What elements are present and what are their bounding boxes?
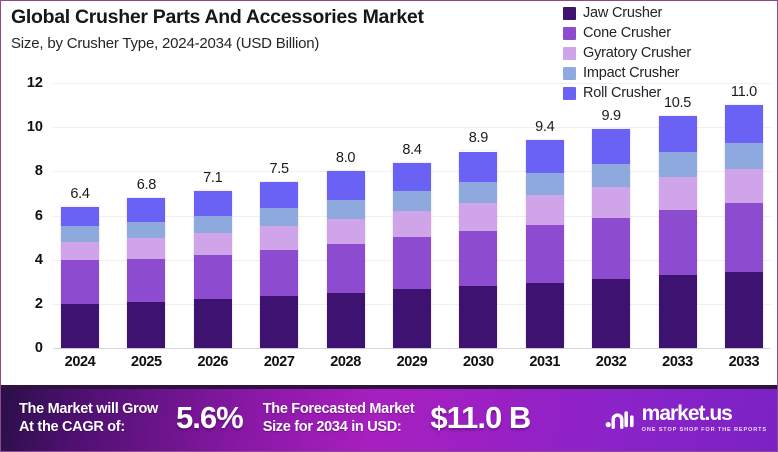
legend-swatch-icon bbox=[563, 87, 576, 100]
x-axis-tick-label: 2026 bbox=[194, 354, 232, 370]
infographic-root: Global Crusher Parts And Accessories Mar… bbox=[0, 0, 778, 452]
bar-segment[interactable] bbox=[61, 260, 99, 304]
bar-segment[interactable] bbox=[327, 293, 365, 348]
market-us-bars-logo-icon bbox=[605, 404, 635, 432]
bar-segment[interactable] bbox=[61, 304, 99, 348]
logo-tagline: ONE STOP SHOP FOR THE REPORTS bbox=[642, 427, 767, 433]
page-subtitle: Size, by Crusher Type, 2024-2034 (USD Bi… bbox=[11, 34, 531, 54]
y-axis-tick-label: 10 bbox=[27, 119, 43, 135]
bar-group[interactable]: 9.4 bbox=[526, 83, 564, 348]
bar-segment[interactable] bbox=[127, 238, 165, 259]
bar-segment[interactable] bbox=[194, 191, 232, 216]
bar-group[interactable]: 6.8 bbox=[127, 83, 165, 348]
bar-segment[interactable] bbox=[393, 163, 431, 192]
y-axis-tick-label: 8 bbox=[35, 163, 43, 179]
bar-segment[interactable] bbox=[393, 211, 431, 237]
x-axis-tick-label: 2028 bbox=[327, 354, 365, 370]
bar-segment[interactable] bbox=[725, 203, 763, 271]
bar-value-label: 8.0 bbox=[336, 150, 355, 166]
bar-segment[interactable] bbox=[127, 222, 165, 238]
bar-value-label: 11.0 bbox=[731, 84, 757, 100]
x-axis-tick-label: 2027 bbox=[260, 354, 298, 370]
legend-swatch-icon bbox=[563, 67, 576, 80]
bar-segment[interactable] bbox=[659, 177, 697, 210]
x-axis-tick-label: 2025 bbox=[127, 354, 165, 370]
bar-segment[interactable] bbox=[592, 129, 630, 163]
bar-segment[interactable] bbox=[526, 195, 564, 224]
stacked-bar[interactable]: 8.4 bbox=[393, 163, 431, 349]
bar-segment[interactable] bbox=[526, 173, 564, 195]
y-axis-tick-label: 0 bbox=[35, 340, 43, 356]
stacked-bar[interactable]: 9.9 bbox=[592, 129, 630, 348]
bar-segment[interactable] bbox=[127, 259, 165, 301]
bar-segment[interactable] bbox=[61, 242, 99, 260]
bar-value-label: 8.4 bbox=[402, 142, 421, 158]
stacked-bar[interactable]: 11.0 bbox=[725, 105, 763, 348]
bar-segment[interactable] bbox=[194, 255, 232, 299]
bar-segment[interactable] bbox=[526, 140, 564, 173]
bar-segment[interactable] bbox=[592, 187, 630, 218]
brand-logo[interactable]: market.us ONE STOP SHOP FOR THE REPORTS bbox=[605, 403, 767, 433]
legend-swatch-icon bbox=[563, 27, 576, 40]
bar-segment[interactable] bbox=[725, 169, 763, 203]
bar-value-label: 6.4 bbox=[70, 186, 89, 202]
cagr-label-line1: The Market will Grow bbox=[19, 400, 158, 418]
bar-segment[interactable] bbox=[327, 244, 365, 293]
stacked-bar[interactable]: 8.9 bbox=[459, 151, 497, 348]
bar-segment[interactable] bbox=[393, 237, 431, 289]
legend-item-label: Jaw Crusher bbox=[583, 5, 662, 21]
bar-segment[interactable] bbox=[260, 208, 298, 226]
y-axis-tick-label: 6 bbox=[35, 208, 43, 224]
legend-item[interactable]: Cone Crusher bbox=[563, 24, 691, 42]
bar-group[interactable]: 10.5 bbox=[659, 83, 697, 348]
bar-group[interactable]: 8.0 bbox=[327, 83, 365, 348]
bar-segment[interactable] bbox=[127, 198, 165, 222]
bar-segment[interactable] bbox=[327, 219, 365, 244]
chart-plot-area: 024681012 6.46.87.17.58.08.48.99.49.910.… bbox=[1, 71, 778, 381]
bar-segment[interactable] bbox=[127, 302, 165, 348]
axis-baseline bbox=[53, 348, 771, 349]
bar-segment[interactable] bbox=[393, 289, 431, 348]
legend-item[interactable]: Gyratory Crusher bbox=[563, 44, 691, 62]
bar-segment[interactable] bbox=[260, 250, 298, 296]
bar-group[interactable]: 8.4 bbox=[393, 83, 431, 348]
stacked-bar[interactable]: 9.4 bbox=[526, 140, 564, 348]
chart-legend: Jaw CrusherCone CrusherGyratory CrusherI… bbox=[563, 4, 691, 102]
bar-segment[interactable] bbox=[592, 164, 630, 187]
title-block: Global Crusher Parts And Accessories Mar… bbox=[11, 5, 531, 54]
stacked-bar[interactable]: 7.5 bbox=[260, 182, 298, 348]
stacked-bar[interactable]: 8.0 bbox=[327, 171, 365, 348]
x-axis-tick-label: 2030 bbox=[459, 354, 497, 370]
legend-item[interactable]: Jaw Crusher bbox=[563, 4, 691, 22]
forecast-label-line1: The Forecasted Market bbox=[263, 400, 415, 418]
legend-item[interactable]: Impact Crusher bbox=[563, 64, 691, 82]
logo-text: market.us ONE STOP SHOP FOR THE REPORTS bbox=[642, 403, 767, 433]
x-axis-tick-label: 2024 bbox=[61, 354, 99, 370]
bar-value-label: 6.8 bbox=[137, 177, 156, 193]
y-axis-tick-label: 12 bbox=[27, 75, 43, 91]
bar-segment[interactable] bbox=[459, 203, 497, 231]
bar-group[interactable]: 7.1 bbox=[194, 83, 232, 348]
x-axis-tick-label: 2032 bbox=[592, 354, 630, 370]
bar-segment[interactable] bbox=[659, 275, 697, 348]
bar-group[interactable]: 7.5 bbox=[260, 83, 298, 348]
bar-group[interactable]: 11.0 bbox=[725, 83, 763, 348]
bar-segment[interactable] bbox=[659, 152, 697, 177]
bar-group[interactable]: 9.9 bbox=[592, 83, 630, 348]
stacked-bar[interactable]: 6.8 bbox=[127, 198, 165, 348]
bar-segment[interactable] bbox=[61, 226, 99, 242]
stacked-bar[interactable]: 6.4 bbox=[61, 207, 99, 348]
legend-item-label: Impact Crusher bbox=[583, 65, 679, 81]
bar-segment[interactable] bbox=[526, 225, 564, 283]
bar-segment[interactable] bbox=[194, 216, 232, 233]
stacked-bar[interactable]: 10.5 bbox=[659, 116, 697, 348]
legend-swatch-icon bbox=[563, 47, 576, 60]
bar-segment[interactable] bbox=[327, 200, 365, 219]
cagr-label: The Market will Grow At the CAGR of: bbox=[19, 400, 158, 436]
cagr-value: 5.6% bbox=[176, 400, 243, 436]
legend-item-label: Gyratory Crusher bbox=[583, 45, 691, 61]
bar-segment[interactable] bbox=[459, 182, 497, 203]
bar-value-label: 7.1 bbox=[203, 170, 222, 186]
bar-segment[interactable] bbox=[725, 272, 763, 348]
bar-segment[interactable] bbox=[459, 286, 497, 348]
bar-series-container: 6.46.87.17.58.08.48.99.49.910.511.0 bbox=[53, 83, 771, 348]
cagr-label-line2: At the CAGR of: bbox=[19, 418, 158, 436]
legend-swatch-icon bbox=[563, 7, 576, 20]
x-axis-tick-label: 2031 bbox=[526, 354, 564, 370]
bar-value-label: 9.9 bbox=[601, 108, 620, 124]
y-axis-tick-label: 4 bbox=[35, 252, 43, 268]
bar-segment[interactable] bbox=[725, 105, 763, 143]
x-axis-tick-label: 2029 bbox=[393, 354, 431, 370]
forecast-label: The Forecasted Market Size for 2034 in U… bbox=[263, 400, 415, 436]
y-axis-tick-label: 2 bbox=[35, 296, 43, 312]
bar-segment[interactable] bbox=[526, 283, 564, 348]
legend-item-label: Roll Crusher bbox=[583, 85, 661, 101]
x-axis-tick-label: 2033 bbox=[659, 354, 697, 370]
legend-item[interactable]: Roll Crusher bbox=[563, 84, 691, 102]
bar-segment[interactable] bbox=[327, 171, 365, 200]
bar-value-label: 8.9 bbox=[469, 130, 488, 146]
bar-group[interactable]: 8.9 bbox=[459, 83, 497, 348]
logo-wordmark: market.us bbox=[642, 403, 767, 424]
bar-segment[interactable] bbox=[260, 182, 298, 208]
x-axis: 2024202520262027202820292030203120322033… bbox=[53, 354, 771, 370]
bar-segment[interactable] bbox=[659, 116, 697, 152]
y-axis: 024681012 bbox=[1, 71, 53, 348]
bar-segment[interactable] bbox=[393, 191, 431, 211]
bar-segment[interactable] bbox=[659, 210, 697, 275]
bar-segment[interactable] bbox=[459, 231, 497, 286]
bar-group[interactable]: 6.4 bbox=[61, 83, 99, 348]
bar-segment[interactable] bbox=[194, 233, 232, 255]
stacked-bar[interactable]: 7.1 bbox=[194, 191, 232, 348]
bar-value-label: 9.4 bbox=[535, 119, 554, 135]
bar-segment[interactable] bbox=[260, 296, 298, 348]
x-axis-tick-label: 2033 bbox=[725, 354, 763, 370]
bar-segment[interactable] bbox=[260, 226, 298, 250]
forecast-label-line2: Size for 2034 in USD: bbox=[263, 418, 415, 436]
legend-item-label: Cone Crusher bbox=[583, 25, 671, 41]
bar-segment[interactable] bbox=[592, 279, 630, 348]
page-title: Global Crusher Parts And Accessories Mar… bbox=[11, 5, 531, 29]
forecast-value: $11.0 B bbox=[430, 400, 530, 436]
bar-segment[interactable] bbox=[194, 299, 232, 348]
bar-segment[interactable] bbox=[61, 207, 99, 227]
bar-segment[interactable] bbox=[725, 143, 763, 169]
bar-segment[interactable] bbox=[592, 218, 630, 279]
summary-banner: The Market will Grow At the CAGR of: 5.6… bbox=[1, 385, 778, 451]
bar-segment[interactable] bbox=[459, 152, 497, 183]
bar-value-label: 7.5 bbox=[270, 161, 289, 177]
